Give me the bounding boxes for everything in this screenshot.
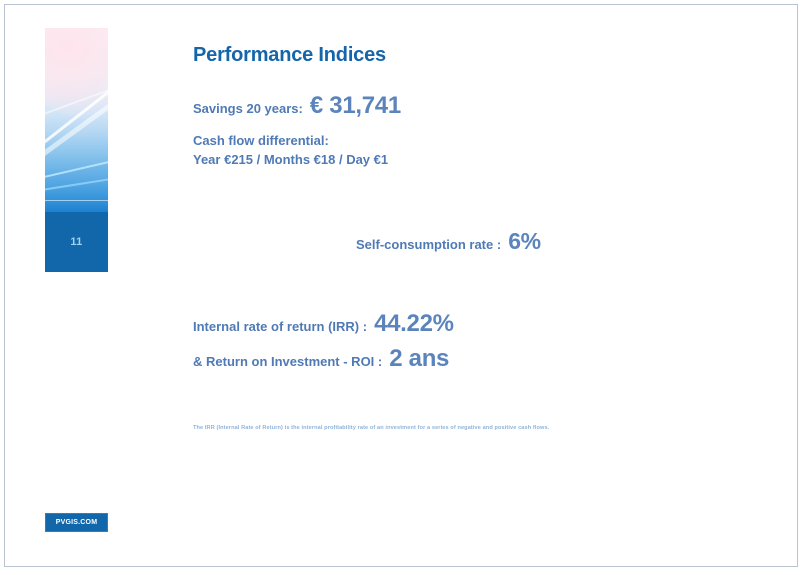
return-metrics: Internal rate of return (IRR) : 44.22% &… bbox=[193, 310, 753, 373]
savings-metric: Savings 20 years: € 31,741 bbox=[193, 92, 753, 120]
roi-value: 2 ans bbox=[389, 345, 449, 373]
cash-flow-detail: Year €215 / Months €18 / Day €1 bbox=[193, 151, 753, 170]
sun-glow-icon bbox=[45, 28, 108, 118]
panel-streak-icon bbox=[45, 153, 108, 180]
roi-metric: & Return on Investment - ROI : 2 ans bbox=[193, 345, 753, 373]
self-consumption-value: 6% bbox=[508, 228, 541, 255]
page-number-badge: 11 bbox=[45, 212, 108, 272]
slide-content: Performance Indices Savings 20 years: € … bbox=[193, 44, 753, 431]
sidebar-decorative-photo bbox=[45, 28, 108, 212]
roi-label: & Return on Investment - ROI : bbox=[193, 354, 382, 369]
irr-value: 44.22% bbox=[374, 310, 454, 338]
savings-label: Savings 20 years: bbox=[193, 101, 303, 116]
presentation-slide: 11 Performance Indices Savings 20 years:… bbox=[0, 0, 806, 575]
panel-streak-icon bbox=[45, 173, 108, 192]
savings-value: € 31,741 bbox=[310, 92, 401, 120]
self-consumption-label: Self-consumption rate : bbox=[356, 237, 501, 252]
self-consumption-metric: Self-consumption rate : 6% bbox=[193, 228, 753, 255]
cash-flow-heading: Cash flow differential: bbox=[193, 132, 753, 151]
irr-metric: Internal rate of return (IRR) : 44.22% bbox=[193, 310, 753, 338]
cash-flow-block: Cash flow differential: Year €215 / Mont… bbox=[193, 132, 753, 170]
pvgis-logo-label: PVGIS.COM bbox=[56, 519, 97, 526]
footnote-text: The IRR (Internal Rate of Return) is the… bbox=[193, 425, 753, 432]
page-number-label: 11 bbox=[70, 236, 82, 248]
pvgis-logo[interactable]: PVGIS.COM bbox=[45, 513, 108, 532]
page-title: Performance Indices bbox=[193, 44, 753, 66]
horizon-line bbox=[45, 200, 108, 201]
irr-label: Internal rate of return (IRR) : bbox=[193, 319, 367, 334]
